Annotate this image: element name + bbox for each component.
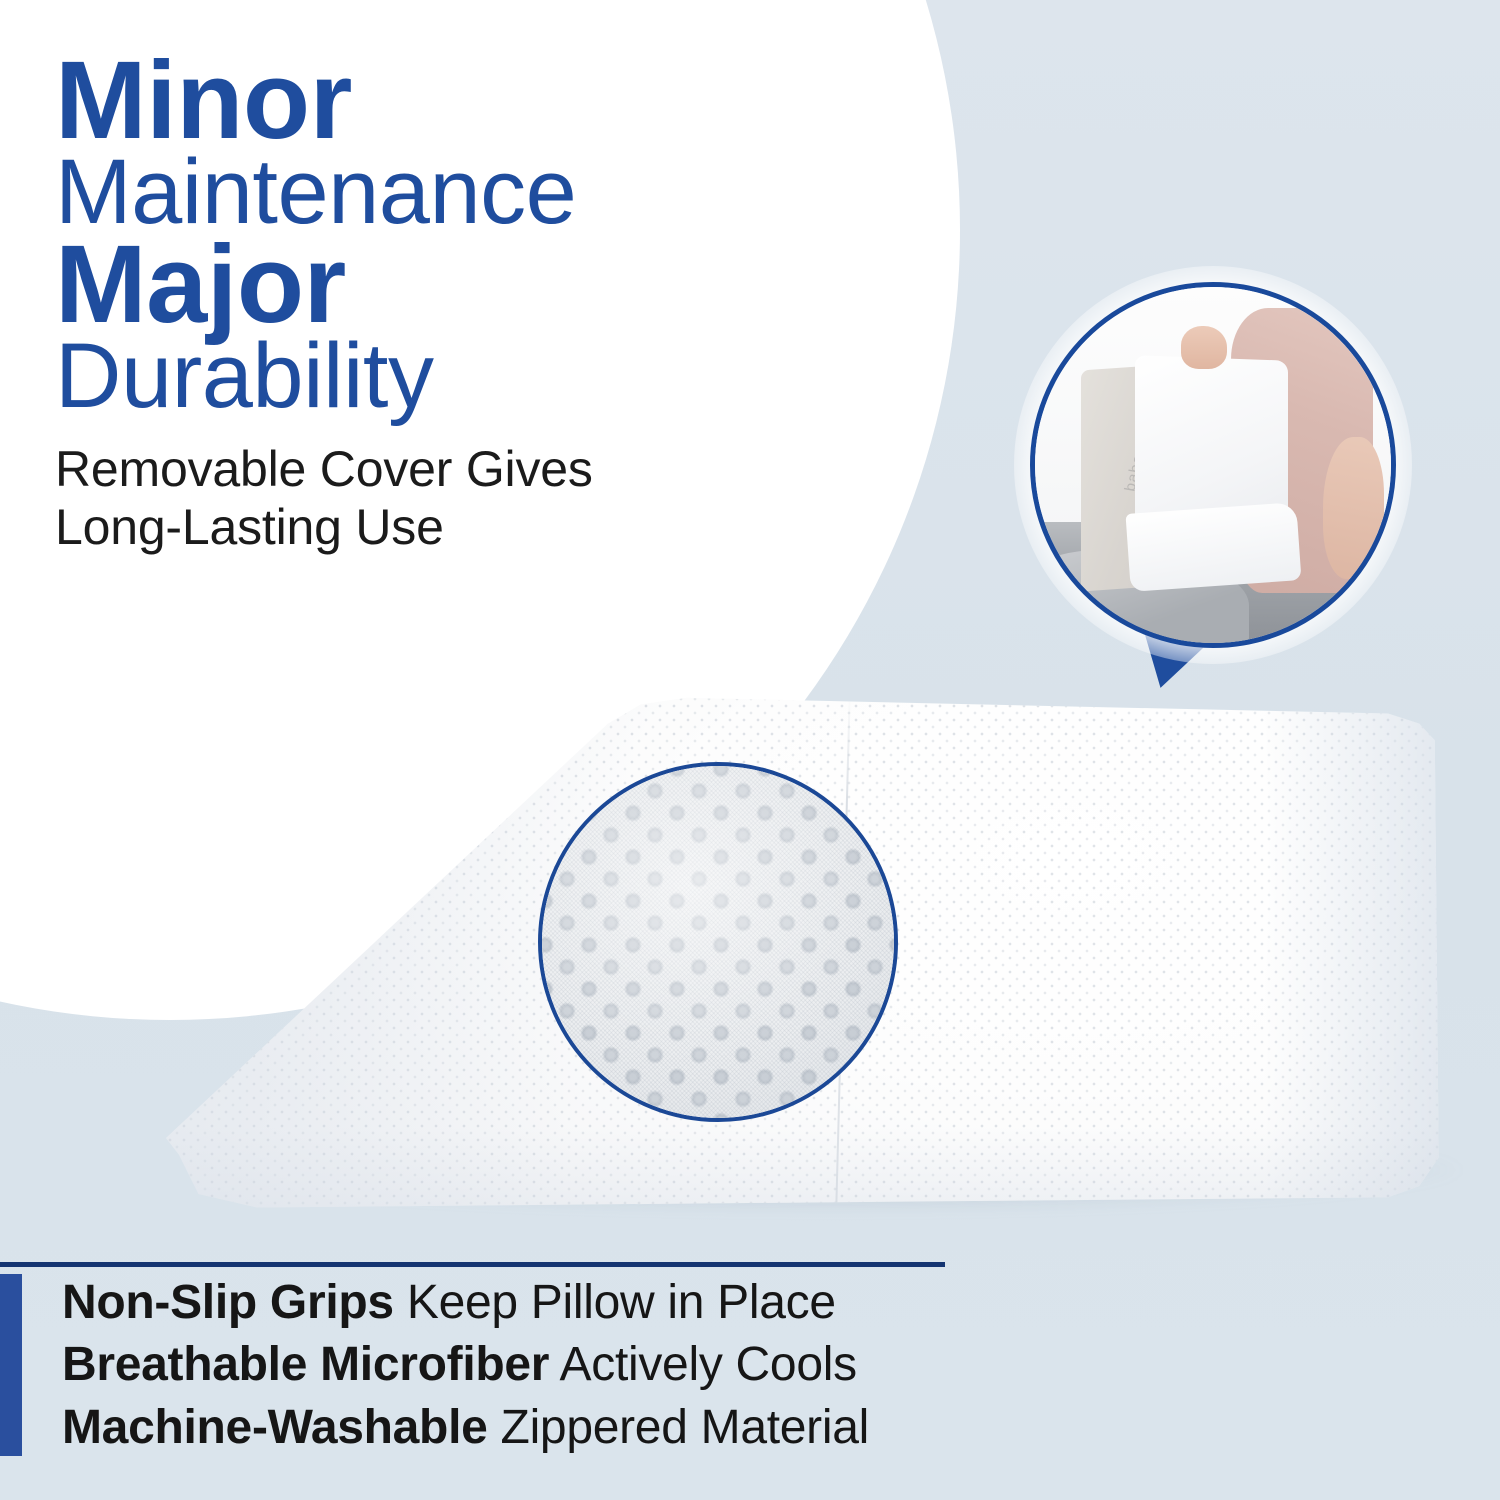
subheadline-line-2: Long-Lasting Use — [55, 498, 915, 556]
headline-line-1: Minor — [55, 48, 915, 154]
product-feature-graphic: Minor Maintenance Major Durability Remov… — [0, 0, 1500, 1500]
headline-line-3: Major — [55, 232, 915, 338]
band-accent-bar — [0, 1274, 22, 1456]
feature-band: Non-Slip Grips Keep Pillow in Place Brea… — [0, 1262, 1500, 1500]
headline-line-4: Durability — [55, 332, 915, 420]
fabric-circle-vignette — [542, 766, 894, 1118]
subheadline-block: Removable Cover Gives Long-Lasting Use — [55, 440, 915, 556]
feature-list: Non-Slip Grips Keep Pillow in Place Brea… — [62, 1272, 1262, 1459]
fabric-detail-circle — [538, 762, 898, 1122]
feature-item-rest: Keep Pillow in Place — [394, 1276, 836, 1329]
feature-item: Machine-Washable Zippered Material — [62, 1397, 1262, 1459]
photo-hand-top — [1181, 326, 1227, 369]
band-divider-rule — [0, 1262, 945, 1267]
headline-block: Minor Maintenance Major Durability Remov… — [55, 48, 915, 556]
feature-item-rest: Actively Cools — [549, 1338, 857, 1391]
inset-photo: baboo — [1035, 287, 1391, 643]
wedge-pillow-product — [140, 690, 1440, 1250]
inset-ring-border: baboo — [1030, 282, 1396, 648]
feature-item-bold: Non-Slip Grips — [62, 1276, 394, 1329]
feature-item: Breathable Microfiber Actively Cools — [62, 1334, 1262, 1396]
photo-person-arm — [1323, 437, 1384, 579]
pillow-shade-bottom — [140, 1127, 1440, 1250]
photo-cover-flap — [1125, 502, 1301, 592]
feature-item-bold: Machine-Washable — [62, 1401, 488, 1454]
feature-item-bold: Breathable Microfiber — [62, 1338, 549, 1391]
subheadline-line-1: Removable Cover Gives — [55, 440, 915, 498]
feature-item: Non-Slip Grips Keep Pillow in Place — [62, 1272, 1262, 1334]
cover-removal-inset: baboo — [1030, 282, 1396, 648]
feature-item-rest: Zippered Material — [488, 1401, 869, 1454]
